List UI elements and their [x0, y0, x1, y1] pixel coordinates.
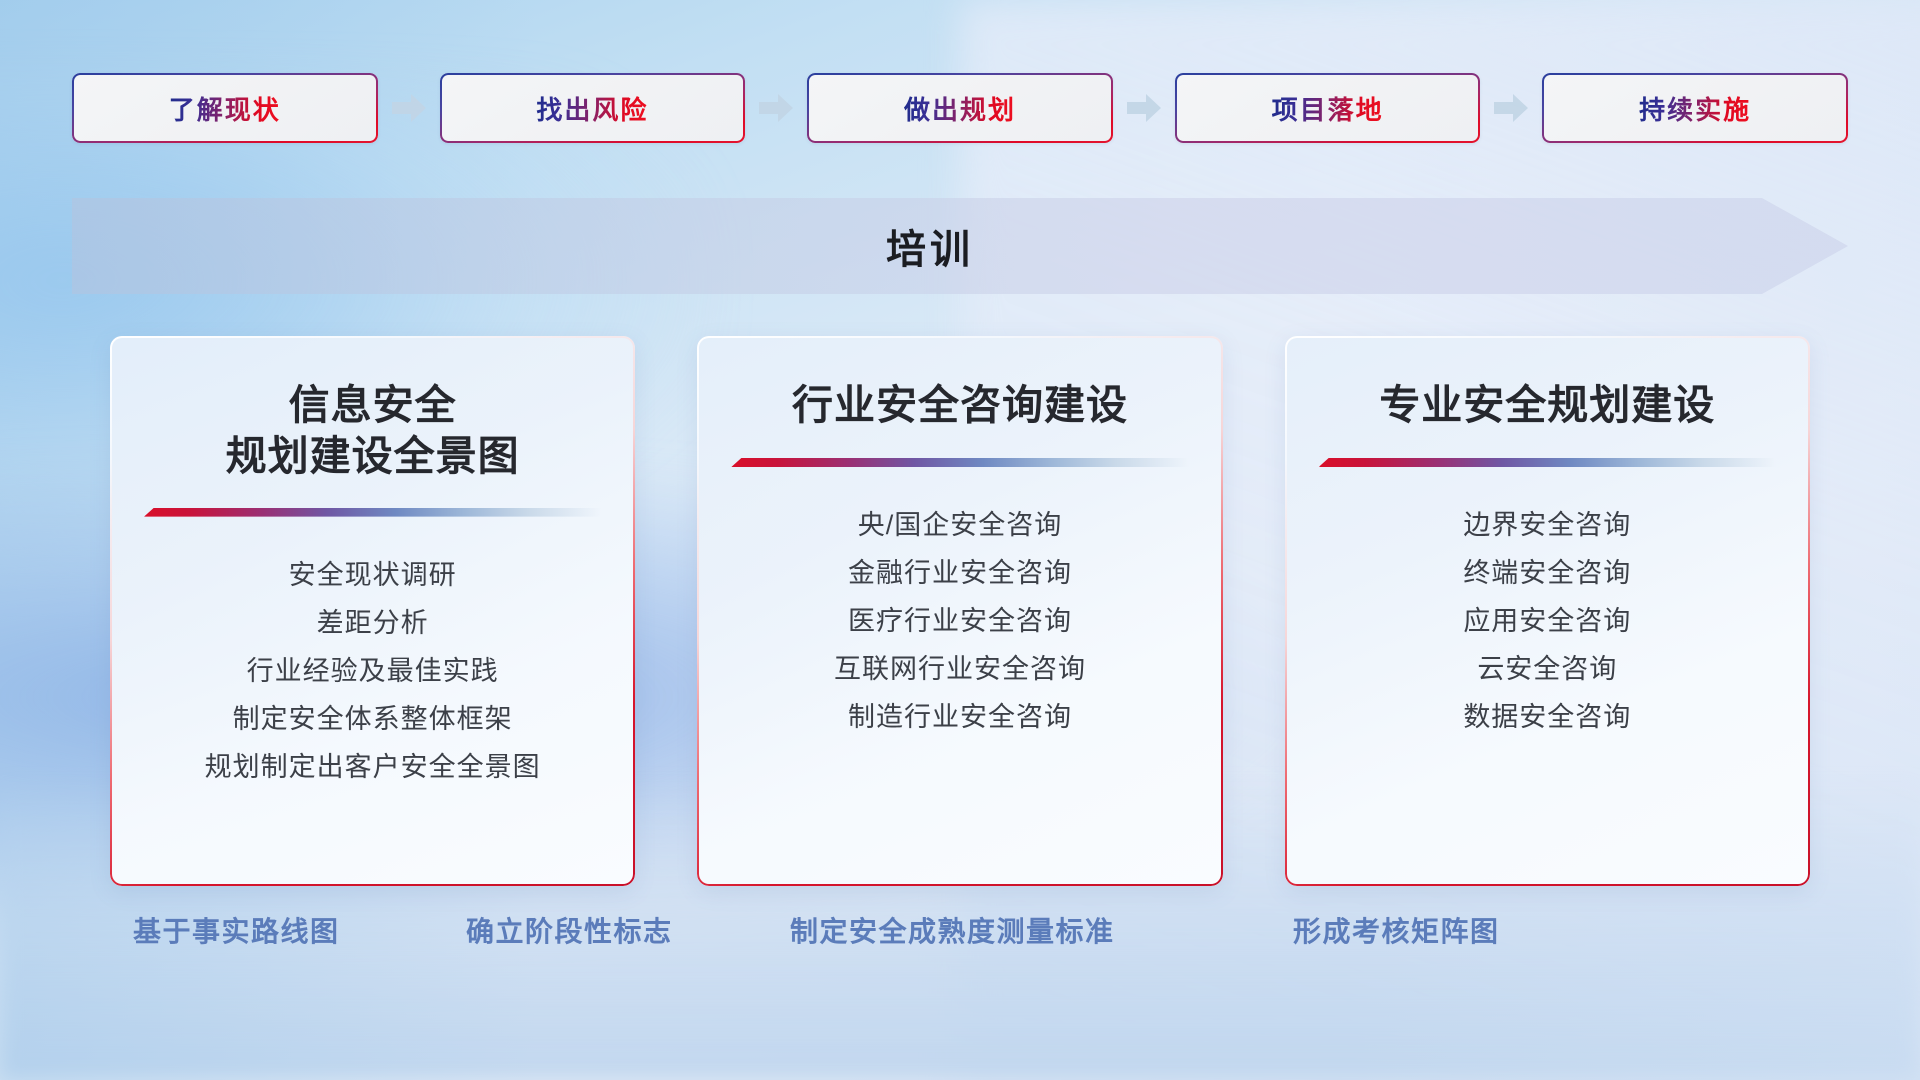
footer-note: 确立阶段性标志 [466, 910, 673, 950]
list-item: 央/国企安全咨询 [731, 502, 1188, 550]
card-item-list: 边界安全咨询 终端安全咨询 应用安全咨询 云安全咨询 数据安全咨询 [1319, 502, 1776, 742]
process-step-row: 了解现状 找出风险 做出规划 项目落地 持续实施 [72, 72, 1848, 144]
footer-note: 制定安全成熟度测量标准 [790, 910, 1115, 950]
process-step-label: 了解现状 [169, 90, 281, 127]
process-step-label: 持续实施 [1639, 90, 1751, 127]
card-professional-security-planning[interactable]: 专业安全规划建设 边界安全咨询 终端安全咨询 应用安全咨询 云安全咨询 数据安全… [1285, 336, 1810, 886]
list-item: 规划制定出客户安全全景图 [144, 744, 601, 792]
card-title: 信息安全 规划建设全景图 [226, 380, 520, 482]
list-item: 制定安全体系整体框架 [144, 696, 601, 744]
card-title: 行业安全咨询建设 [792, 380, 1128, 432]
list-item: 终端安全咨询 [1319, 550, 1776, 598]
slide-stage: 了解现状 找出风险 做出规划 项目落地 持续实施 [0, 0, 1920, 1080]
list-item: 安全现状调研 [144, 552, 601, 600]
list-item: 金融行业安全咨询 [731, 550, 1188, 598]
right-arrow-icon [1127, 93, 1161, 123]
footer-note: 形成考核矩阵图 [1293, 910, 1500, 950]
card-row: 信息安全 规划建设全景图 安全现状调研 差距分析 行业经验及最佳实践 制定安全体… [110, 336, 1810, 886]
banner-title: 培训 [72, 198, 1848, 294]
process-step-2[interactable]: 找出风险 [440, 73, 746, 143]
right-arrow-icon [392, 93, 426, 123]
training-banner: 培训 [72, 198, 1848, 294]
list-item: 制造行业安全咨询 [731, 694, 1188, 742]
card-divider [731, 458, 1188, 468]
process-step-label: 找出风险 [536, 90, 648, 127]
process-step-label: 做出规划 [904, 90, 1016, 127]
card-divider [144, 508, 601, 518]
footer-note-row: 基于事实路线图 确立阶段性标志 制定安全成熟度测量标准 形成考核矩阵图 [0, 910, 1920, 980]
list-item: 医疗行业安全咨询 [731, 598, 1188, 646]
list-item: 数据安全咨询 [1319, 694, 1776, 742]
card-information-security-blueprint[interactable]: 信息安全 规划建设全景图 安全现状调研 差距分析 行业经验及最佳实践 制定安全体… [110, 336, 635, 886]
process-step-1[interactable]: 了解现状 [72, 73, 378, 143]
process-step-5[interactable]: 持续实施 [1542, 73, 1848, 143]
card-divider-bar [731, 458, 1188, 467]
list-item: 应用安全咨询 [1319, 598, 1776, 646]
right-arrow-icon [759, 93, 793, 123]
card-item-list: 央/国企安全咨询 金融行业安全咨询 医疗行业安全咨询 互联网行业安全咨询 制造行… [731, 502, 1188, 742]
list-item: 互联网行业安全咨询 [731, 646, 1188, 694]
footer-note: 基于事实路线图 [133, 910, 340, 950]
process-step-label: 项目落地 [1272, 90, 1384, 127]
card-industry-security-consulting[interactable]: 行业安全咨询建设 央/国企安全咨询 金融行业安全咨询 医疗行业安全咨询 互联网行… [697, 336, 1222, 886]
list-item: 云安全咨询 [1319, 646, 1776, 694]
card-divider-bar [1319, 458, 1776, 467]
card-item-list: 安全现状调研 差距分析 行业经验及最佳实践 制定安全体系整体框架 规划制定出客户… [144, 552, 601, 792]
card-divider [1319, 458, 1776, 468]
process-step-3[interactable]: 做出规划 [807, 73, 1113, 143]
list-item: 行业经验及最佳实践 [144, 648, 601, 696]
process-step-4[interactable]: 项目落地 [1175, 73, 1481, 143]
card-divider-bar [144, 508, 601, 517]
card-title: 专业安全规划建设 [1379, 380, 1715, 432]
list-item: 差距分析 [144, 600, 601, 648]
list-item: 边界安全咨询 [1319, 502, 1776, 550]
right-arrow-icon [1494, 93, 1528, 123]
